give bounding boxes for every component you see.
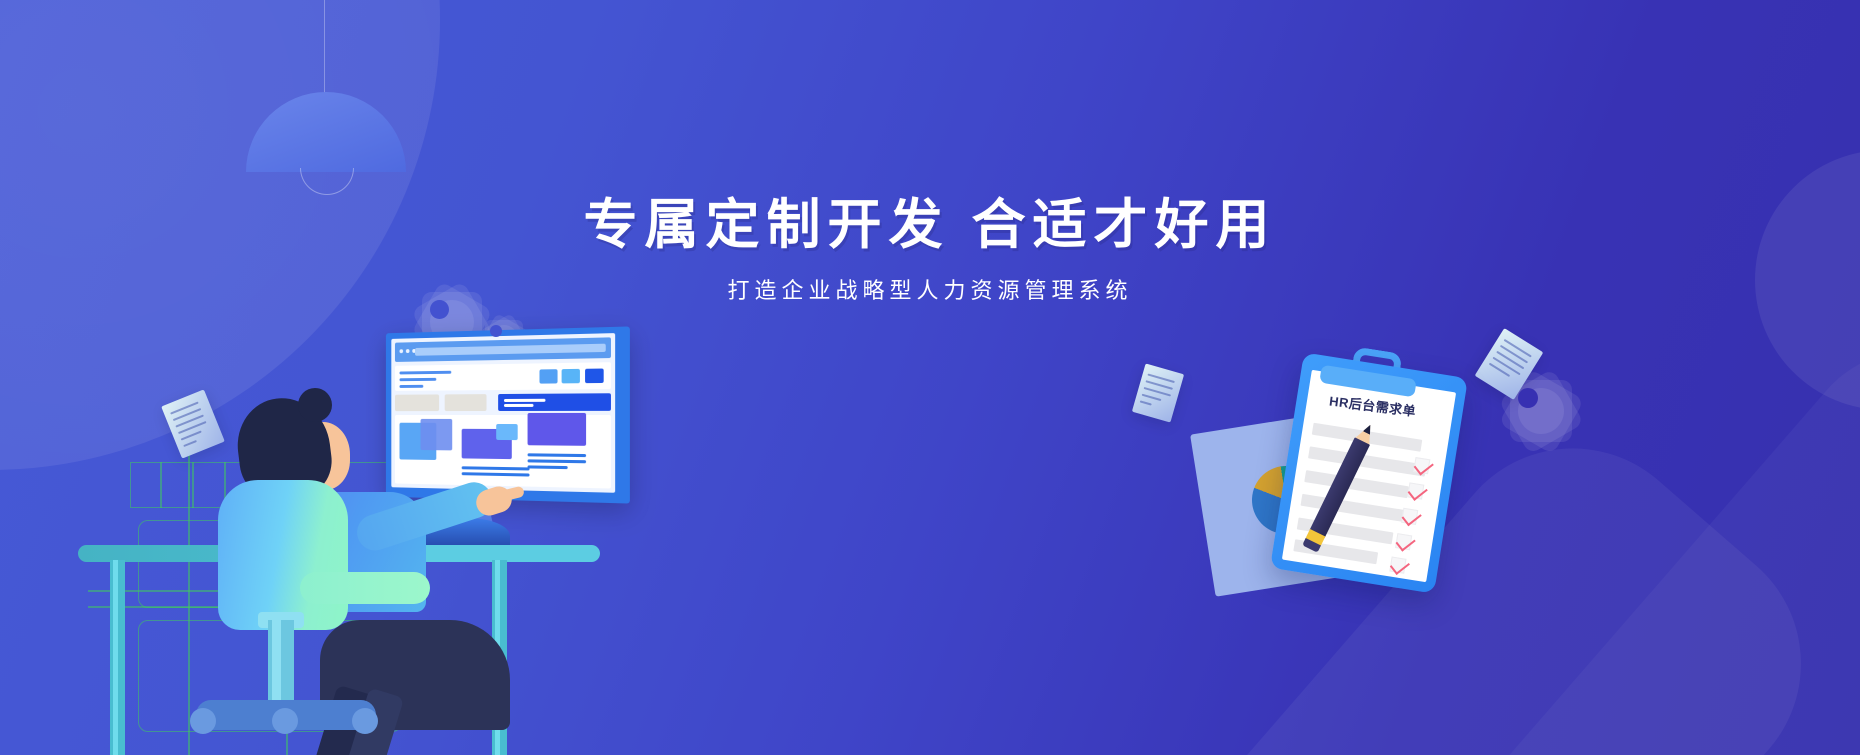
chair-caster (352, 708, 378, 734)
page-subtitle: 打造企业战略型人力资源管理系统 (0, 273, 1860, 305)
tile-deep-blue (585, 369, 604, 384)
hero-banner: HR后台需求单 专属定制开发 合 (0, 0, 1860, 755)
hero-text-block: 专属定制开发 合适才好用 打造企业战略型人力资源管理系统 (0, 196, 1860, 305)
tile-cyan (562, 369, 580, 384)
clipboard-illustration: HR后台需求单 (1190, 330, 1520, 620)
chair-backrest (218, 480, 348, 630)
chair-caster (190, 708, 216, 734)
person-hair-tuft (298, 388, 332, 422)
desk-leg (110, 560, 125, 755)
address-bar (415, 344, 606, 356)
card-violet (528, 413, 587, 446)
browser-titlebar (395, 337, 611, 362)
window-dots-icon (399, 349, 415, 353)
chair-post-highlight (272, 620, 281, 710)
chair-caster (272, 708, 298, 734)
clipboard-sheet: HR后台需求单 (1282, 370, 1456, 582)
tile-light-blue (539, 369, 557, 383)
gear-icon (1518, 388, 1564, 434)
page-title: 专属定制开发 合适才好用 (0, 196, 1860, 255)
chair-seat (300, 572, 430, 604)
